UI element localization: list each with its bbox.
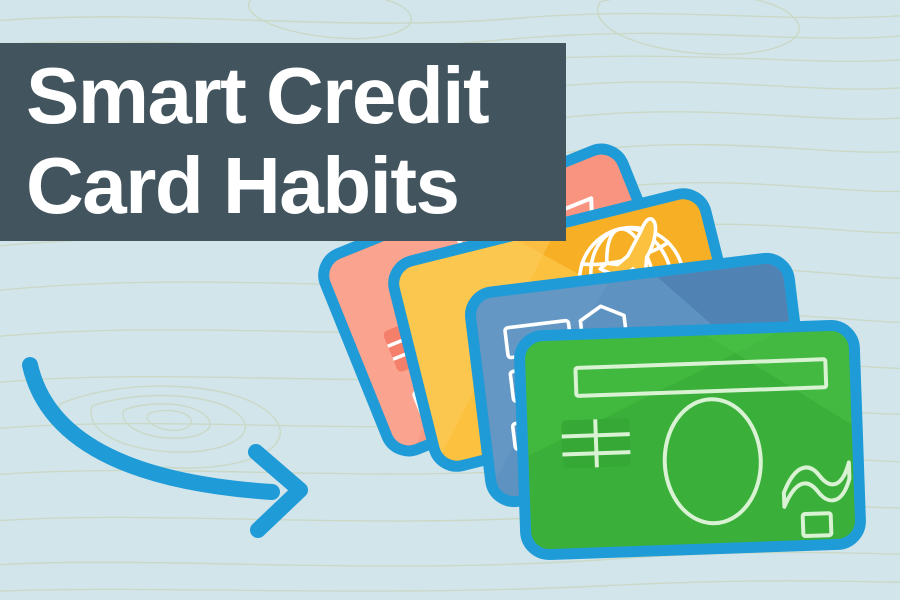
curved-arrow	[0, 340, 340, 540]
green-card[interactable]	[524, 330, 855, 549]
page-title-line-2: Card Habits	[26, 141, 566, 231]
title-banner: Smart Credit Card Habits	[0, 43, 566, 241]
curved-arrow-shaft	[30, 365, 272, 492]
page-title-line-1: Smart Credit	[26, 51, 566, 141]
poster-canvas: Smart Credit Card Habits	[0, 0, 900, 600]
